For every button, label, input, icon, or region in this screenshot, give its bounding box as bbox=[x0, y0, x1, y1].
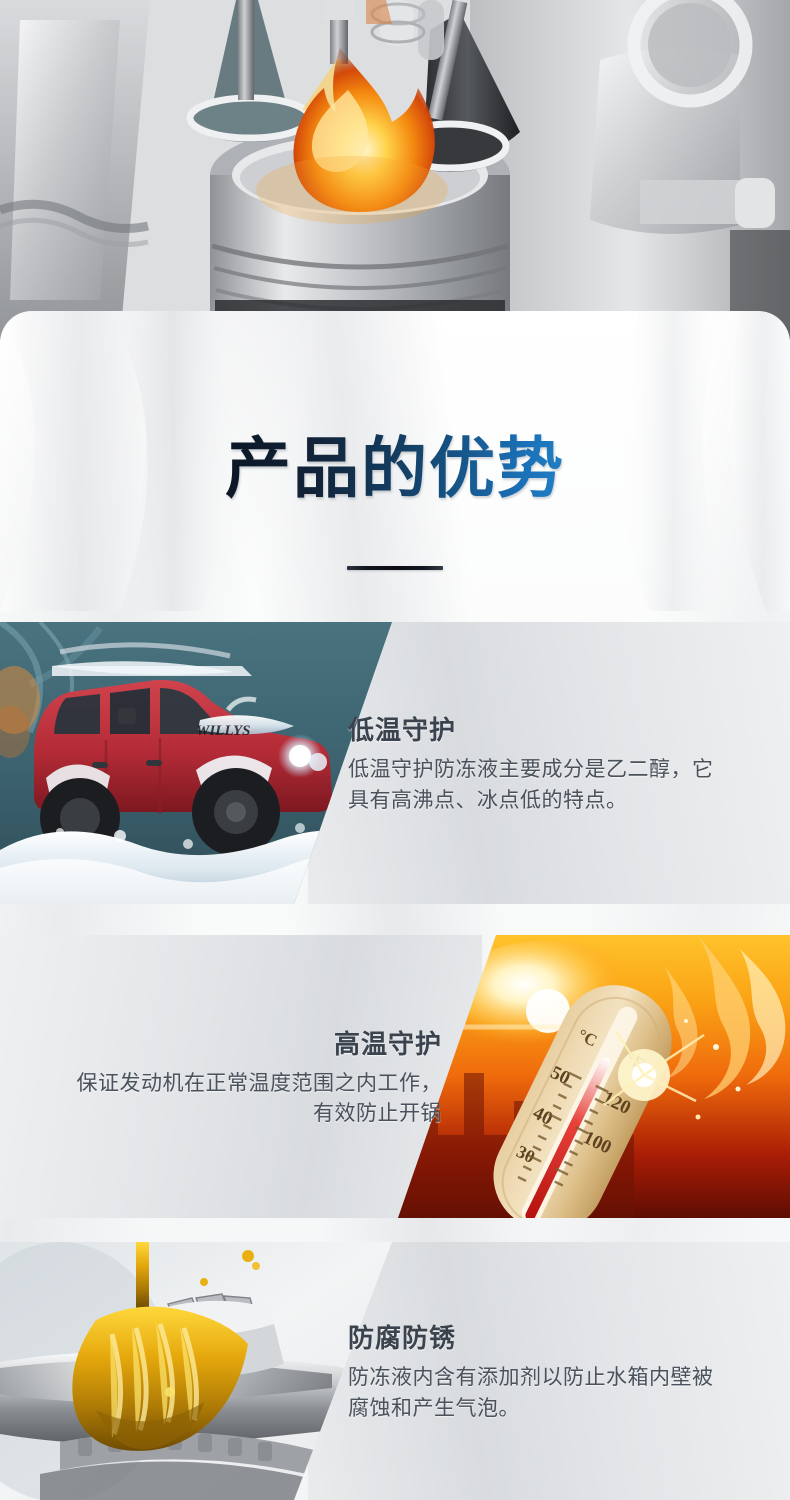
feature-anti-corrosion-body: 防冻液内含有添加剂以防止水箱内壁被腐蚀和产生气泡。 bbox=[348, 1363, 720, 1424]
feature-high-temp: °C °F 50 40 30 120 100 bbox=[0, 935, 790, 1218]
feature-low-temp-body: 低温守护防冻液主要成分是乙二醇，它具有高沸点、冰点低的特点。 bbox=[348, 755, 720, 816]
feature-low-temp-heading: 低温守护 bbox=[348, 710, 456, 747]
feature-anti-corrosion-heading: 防腐防锈 bbox=[348, 1318, 456, 1355]
feature-low-temp: WILLYS bbox=[0, 622, 790, 904]
feature-anti-corrosion-text: 防腐防锈 防冻液内含有添加剂以防止水箱内壁被腐蚀和产生气泡。 bbox=[348, 1242, 748, 1500]
title-divider bbox=[347, 566, 443, 570]
product-advantages-page: 产品的优势 bbox=[0, 0, 790, 1500]
engine-illustration bbox=[0, 0, 790, 340]
feature-high-temp-heading: 高温守护 bbox=[334, 1024, 442, 1061]
feature-anti-corrosion: 防腐防锈 防冻液内含有添加剂以防止水箱内壁被腐蚀和产生气泡。 bbox=[0, 1242, 790, 1500]
willys-badge-text: WILLYS bbox=[196, 723, 250, 739]
feature-high-temp-body: 保证发动机在正常温度范围之内工作，有效防止开锅 bbox=[70, 1069, 442, 1130]
feature-low-temp-text: 低温守护 低温守护防冻液主要成分是乙二醇，它具有高沸点、冰点低的特点。 bbox=[348, 622, 748, 904]
feature-high-temp-text: 高温守护 保证发动机在正常温度范围之内工作，有效防止开锅 bbox=[42, 935, 442, 1218]
hero-image bbox=[0, 0, 790, 340]
page-title: 产品的优势 bbox=[225, 434, 565, 503]
content-card: 产品的优势 bbox=[0, 311, 790, 1500]
page-title-wrapper: 产品的优势 bbox=[0, 434, 790, 503]
